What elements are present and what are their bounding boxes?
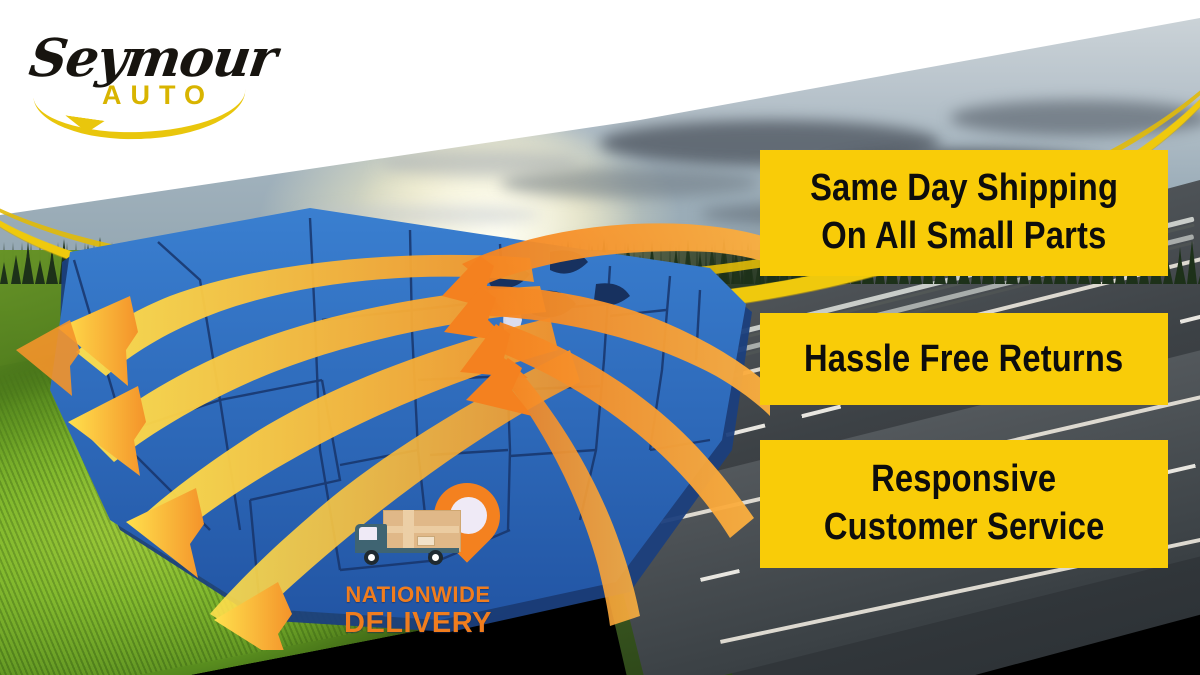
brand-subtitle: AUTO (102, 80, 214, 111)
pine-tree (0, 262, 8, 284)
truck-tape-vertical (403, 510, 414, 550)
feature-box-1-line-2: On All Small Parts (821, 213, 1106, 261)
truck-wheel (428, 550, 443, 565)
nationwide-line-1: NATIONWIDE (342, 584, 494, 606)
feature-box-1-line-1: Same Day Shipping (810, 165, 1118, 213)
delivery-truck-icon (355, 510, 459, 566)
nationwide-line-2: DELIVERY (342, 609, 494, 638)
feature-box-3-line-2: Customer Service (824, 504, 1105, 552)
pine-tree (1176, 247, 1184, 284)
feature-box-same-day-shipping: Same Day Shipping On All Small Parts (760, 150, 1168, 276)
promo-banner: Seymour AUTO (0, 0, 1200, 675)
feature-box-3-line-1: Responsive (871, 456, 1056, 504)
truck-tape (383, 526, 459, 533)
pine-tree (1187, 240, 1197, 284)
feature-box-hassle-free-returns: Hassle Free Returns (760, 313, 1168, 405)
truck-window (359, 527, 377, 540)
feature-box-2-line-1: Hassle Free Returns (804, 338, 1123, 381)
feature-box-responsive-customer-service: Responsive Customer Service (760, 440, 1168, 568)
us-map-graphic: NATIONWIDE DELIVERY (10, 200, 770, 650)
truck-box-label (417, 536, 435, 546)
brand-logo[interactable]: Seymour AUTO (30, 22, 255, 127)
nationwide-delivery-label: NATIONWIDE DELIVERY (342, 584, 494, 638)
truck-wheel (364, 550, 379, 565)
